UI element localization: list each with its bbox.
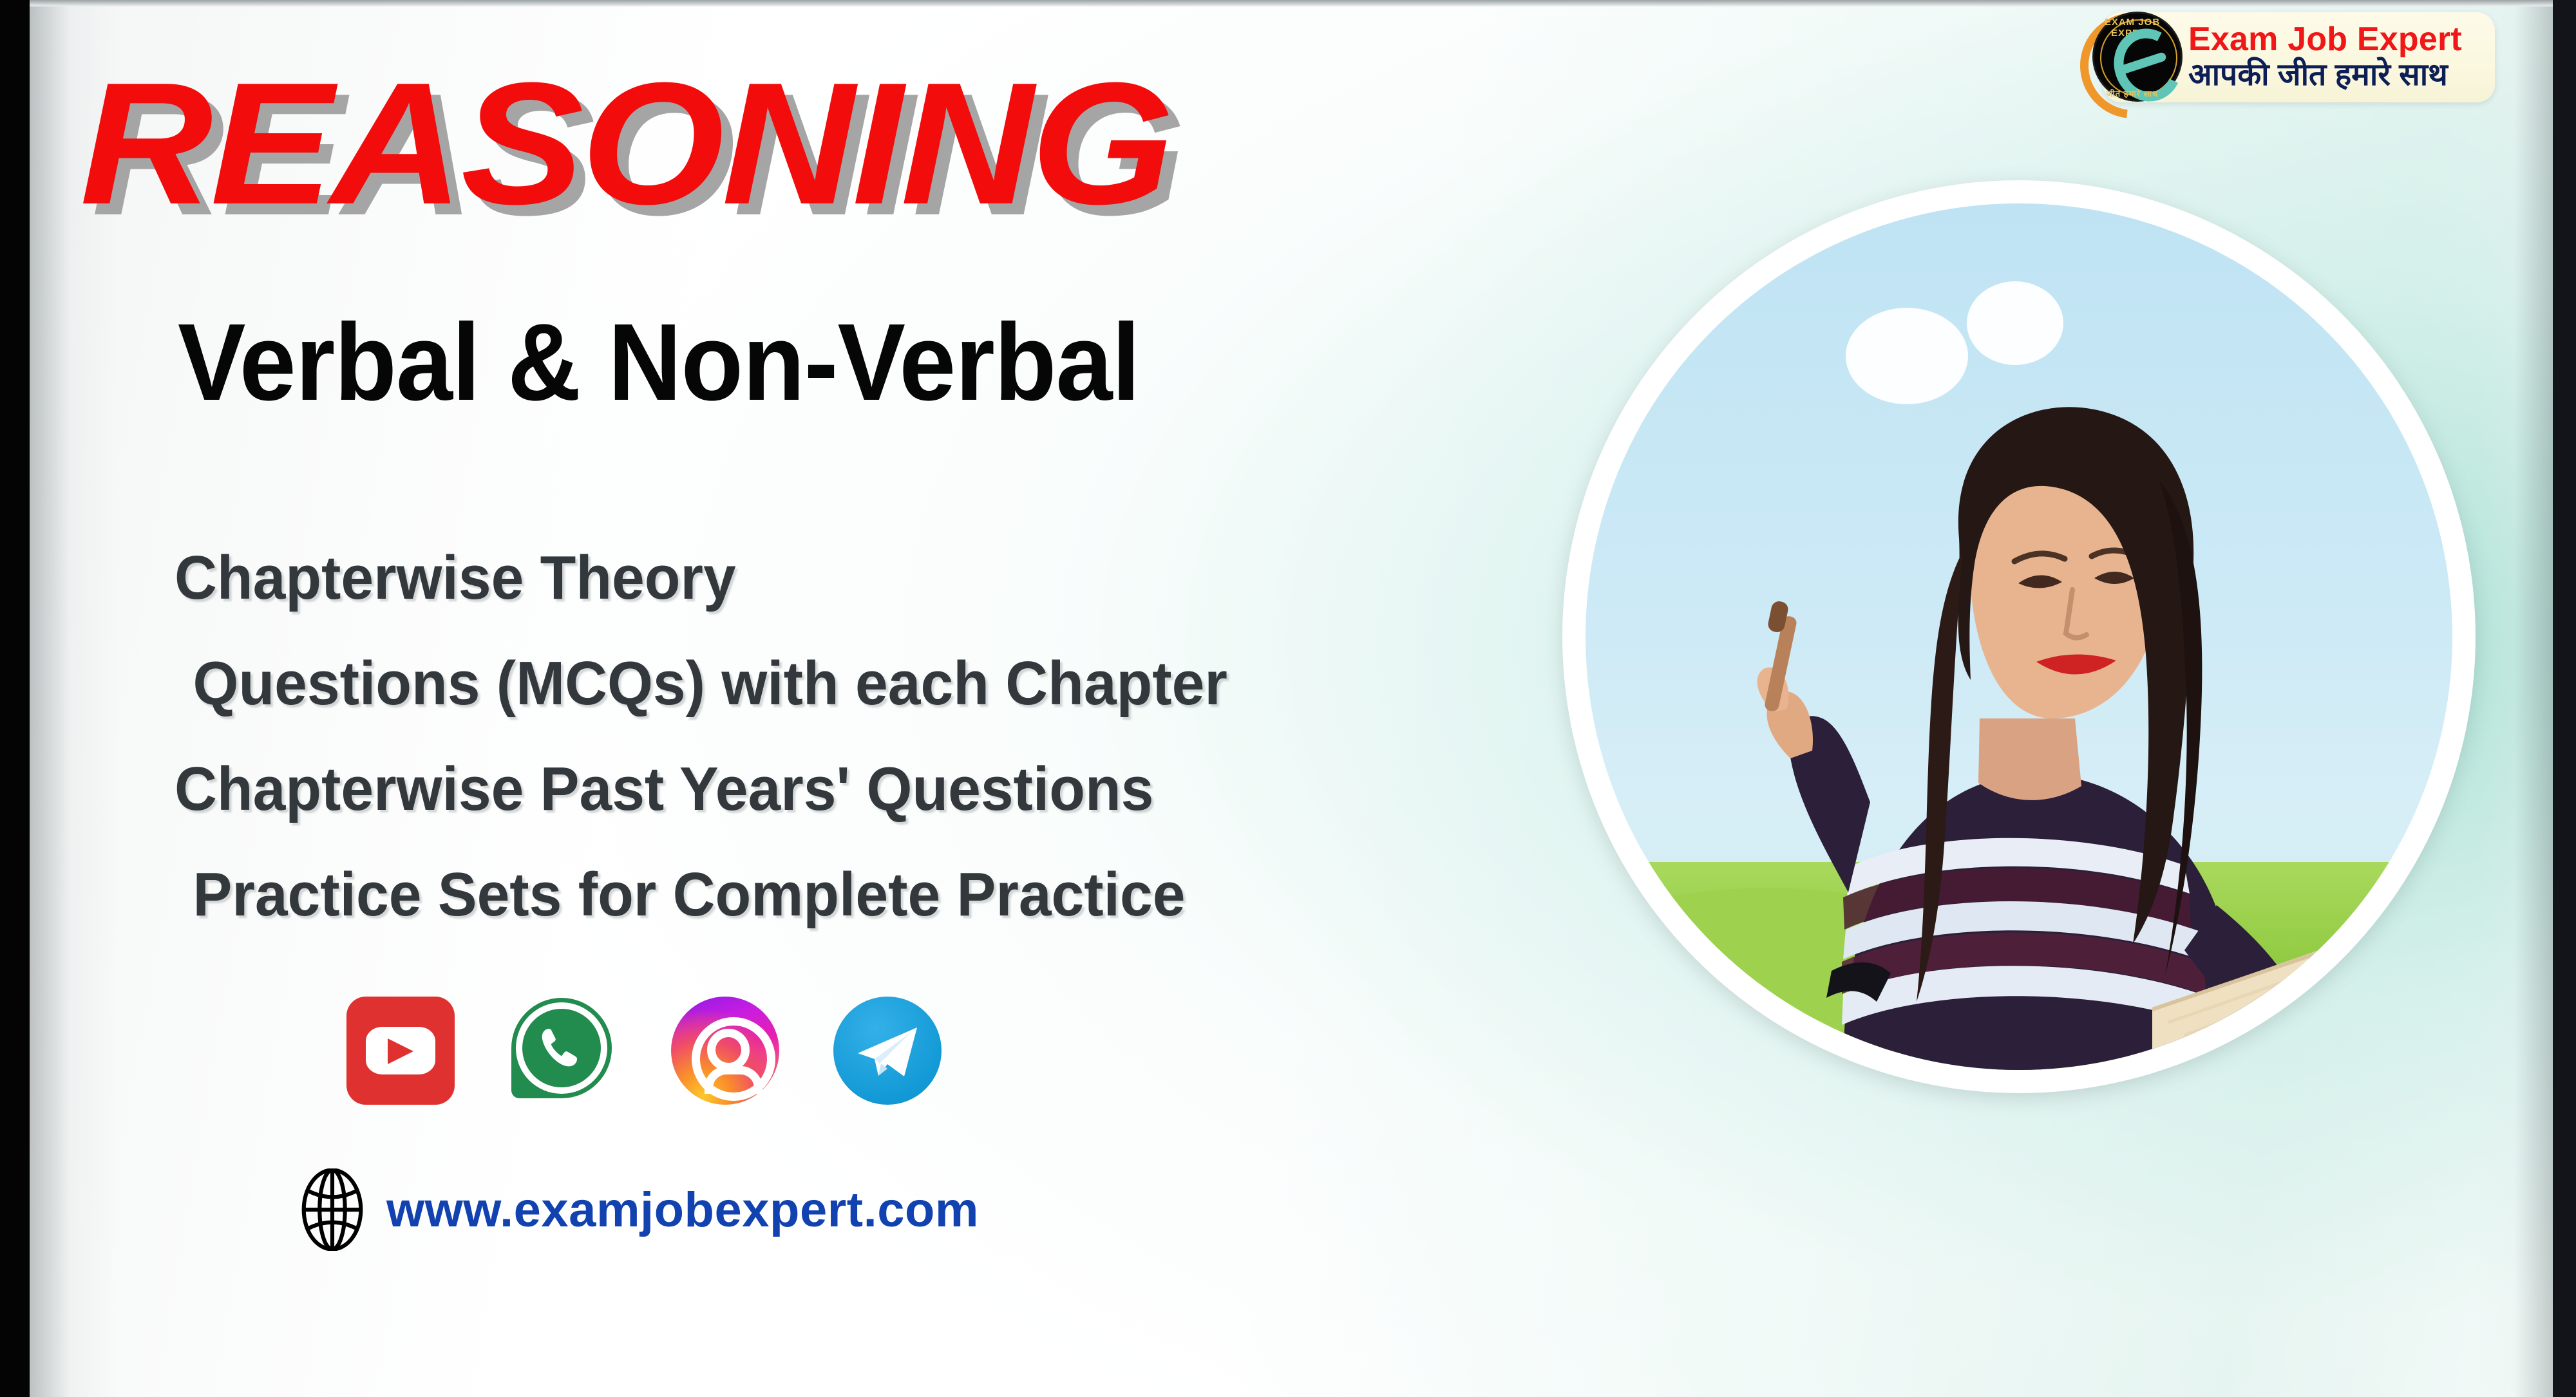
logo-ring-bottom-text: जीत हमारे साथ	[2084, 88, 2181, 99]
photo-frame	[1562, 180, 2476, 1093]
website-link[interactable]: www.examjobexpert.com	[300, 1168, 979, 1251]
brand-tagline: आपकी जीत हमारे साथ	[2188, 58, 2465, 93]
youtube-icon[interactable]	[346, 997, 455, 1105]
list-item: Chapterwise Theory	[175, 547, 1582, 609]
play-triangle-icon	[388, 1038, 413, 1064]
whatsapp-icon[interactable]	[509, 997, 617, 1105]
paper-plane-icon	[855, 1025, 920, 1079]
phone-handset-icon	[540, 1025, 582, 1070]
social-links	[346, 997, 942, 1105]
woman-reading-book-illustration	[1586, 203, 2452, 1070]
avatar	[1586, 203, 2452, 1070]
list-item: Questions (MCQs) with each Chapter	[175, 653, 1582, 715]
brand-badge[interactable]: EXAM JOB EXPERT जीत हमारे साथ Exam Job E…	[2084, 9, 2495, 106]
list-item: Chapterwise Past Years' Questions	[175, 758, 1582, 820]
page-title: REASONING	[80, 64, 1171, 224]
brand-title: Exam Job Expert	[2188, 23, 2465, 57]
poster-background: EXAM JOB EXPERT जीत हमारे साथ Exam Job E…	[30, 0, 2553, 1397]
poster-canvas: EXAM JOB EXPERT जीत हमारे साथ Exam Job E…	[0, 0, 2576, 1397]
telegram-icon[interactable]	[833, 997, 942, 1105]
left-border	[0, 0, 30, 1397]
page-subtitle: Verbal & Non-Verbal	[178, 308, 1140, 417]
right-border	[2553, 0, 2576, 1397]
list-item: Practice Sets for Complete Practice	[175, 864, 1582, 926]
instagram-icon[interactable]	[671, 997, 779, 1105]
feature-list: Chapterwise Theory Questions (MCQs) with…	[175, 547, 1656, 970]
top-border	[30, 0, 2553, 6]
exam-job-expert-logo-icon: EXAM JOB EXPERT जीत हमारे साथ	[2084, 9, 2181, 106]
avatar-head-icon	[707, 1029, 750, 1071]
globe-icon	[300, 1168, 365, 1251]
website-url: www.examjobexpert.com	[386, 1182, 979, 1238]
avatar-shoulders-icon	[705, 1066, 762, 1094]
